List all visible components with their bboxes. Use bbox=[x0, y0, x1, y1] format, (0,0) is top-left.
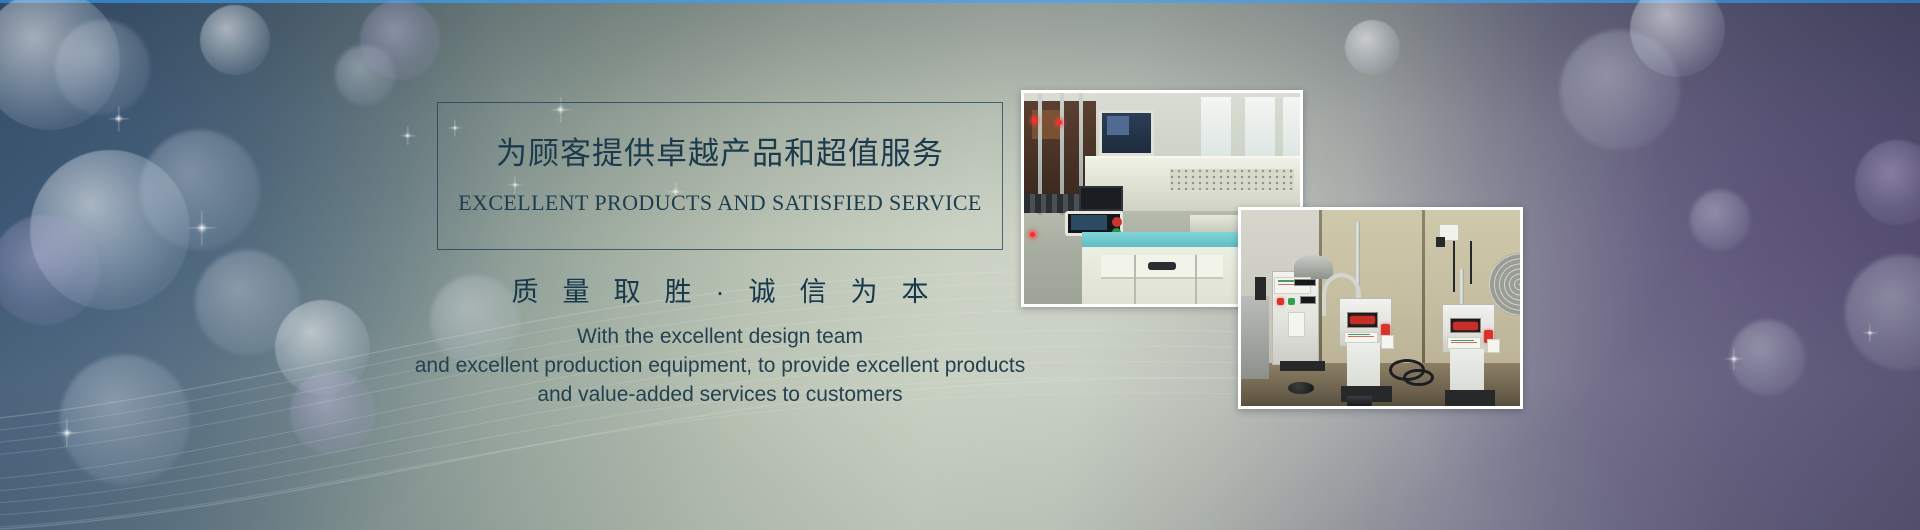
desk-divider bbox=[1134, 255, 1136, 304]
hanging-cable bbox=[1453, 241, 1455, 292]
left-machine-body bbox=[1241, 296, 1269, 378]
socket-plug bbox=[1436, 237, 1444, 247]
press-a-label bbox=[1344, 332, 1377, 344]
page-subtitle: EXCELLENT PRODUCTS AND SATISFIED SERVICE bbox=[437, 190, 1003, 216]
metal-dome-cap bbox=[1294, 255, 1333, 279]
sealer-red-button bbox=[1277, 298, 1284, 305]
power-cable-coil bbox=[1403, 369, 1434, 387]
sealer-panel-card bbox=[1288, 312, 1305, 337]
rubber-pad bbox=[1288, 382, 1313, 394]
lcd-display bbox=[1071, 215, 1107, 230]
indicator-light bbox=[1030, 232, 1035, 237]
sealer-anvil bbox=[1280, 361, 1325, 371]
left-machine-top bbox=[1255, 277, 1266, 301]
machine-vent-grille bbox=[1170, 169, 1294, 190]
press-a-foot bbox=[1347, 396, 1372, 406]
headline-frame bbox=[437, 102, 1003, 250]
wall-seam bbox=[1319, 210, 1322, 363]
press-b-readout-digits bbox=[1453, 322, 1478, 330]
description-paragraph: With the excellent design team and excel… bbox=[300, 322, 1140, 409]
press-b-warning-sticker bbox=[1487, 339, 1501, 353]
sealer-display bbox=[1294, 279, 1316, 287]
press-b-label bbox=[1447, 337, 1480, 349]
hanging-cable bbox=[1470, 241, 1472, 284]
copy-block: 为顾客提供卓越产品和超值服务 EXCELLENT PRODUCTS AND SA… bbox=[0, 0, 1920, 530]
press-a-column bbox=[1347, 343, 1380, 392]
sealer-keypad bbox=[1300, 296, 1317, 304]
press-a-warning-sticker bbox=[1381, 335, 1395, 349]
press-a-readout-digits bbox=[1350, 316, 1375, 324]
press-b-column bbox=[1450, 349, 1483, 396]
page-title: 为顾客提供卓越产品和超值服务 bbox=[437, 132, 1003, 176]
press-b-base-plate bbox=[1445, 390, 1495, 406]
company-slogan: 质量取胜·诚信为本 bbox=[400, 270, 1040, 309]
drawer-handle bbox=[1148, 262, 1176, 270]
desk-divider bbox=[1195, 255, 1197, 304]
description-line: and excellent production equipment, to p… bbox=[300, 351, 1140, 380]
background-object bbox=[1032, 110, 1060, 140]
wall-seam bbox=[1422, 210, 1425, 363]
monitor-glow bbox=[1107, 116, 1129, 135]
control-panel-upper bbox=[1079, 186, 1123, 211]
description-line: and value-added services to customers bbox=[300, 380, 1140, 409]
photo-content bbox=[1241, 210, 1520, 406]
sealer-green-button bbox=[1288, 298, 1295, 305]
press-machines-photo[interactable] bbox=[1238, 207, 1523, 409]
promo-banner: 为顾客提供卓越产品和超值服务 EXCELLENT PRODUCTS AND SA… bbox=[0, 0, 1920, 530]
description-line: With the excellent design team bbox=[300, 322, 1140, 351]
